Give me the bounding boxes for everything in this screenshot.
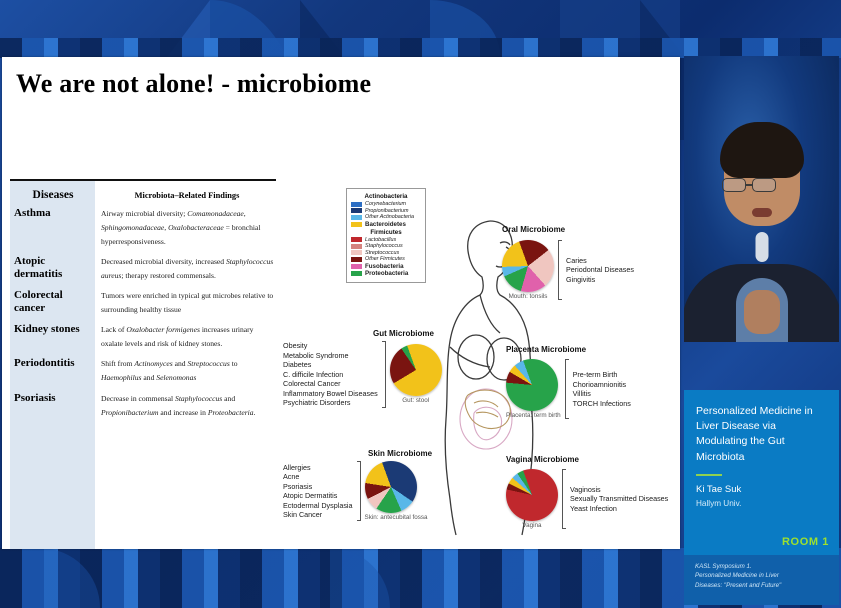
legend-item: Lactobacillus xyxy=(351,237,421,243)
condition-item: Caries xyxy=(566,256,634,266)
condition-item: Chorioamnionitis xyxy=(573,380,631,390)
vagina-microbiome-title: Vagina Microbiome xyxy=(506,455,668,464)
condition-item: Yeast Infection xyxy=(570,504,668,514)
disease-finding: Airway microbial diversity; Comamonadace… xyxy=(95,204,278,252)
legend-label: Lactobacillus xyxy=(365,237,396,243)
symposium-line: Diseases: "Present and Future" xyxy=(695,581,828,590)
legend-label: Corynebacterium xyxy=(365,201,406,207)
condition-item: Psoriasis xyxy=(283,482,353,492)
speaker-neck xyxy=(744,290,780,334)
legend-item: Staphylococcus xyxy=(351,243,421,249)
legend-swatch xyxy=(351,271,362,276)
table-header-row: Diseases Microbiota–Related Findings xyxy=(10,181,278,204)
legend-swatch xyxy=(351,250,362,255)
microphone-icon xyxy=(755,232,768,262)
legend-swatch xyxy=(351,264,362,269)
condition-item: Colorectal Cancer xyxy=(283,379,378,389)
speaker-glasses-left xyxy=(722,178,746,192)
condition-item: Ectodermal Dysplasia xyxy=(283,501,353,511)
disease-finding: Tumors were enriched in typical gut micr… xyxy=(95,286,278,320)
session-info-card: Personalized Medicine in Liver Disease v… xyxy=(684,390,839,555)
oral-microbiome-block: Oral Microbiome Mouth: tonsils CariesPer… xyxy=(502,225,634,300)
condition-item: Metabolic Syndrome xyxy=(283,351,378,361)
legend-label: Propionibacterium xyxy=(365,208,408,214)
speaker-affiliation: Hallym Univ. xyxy=(696,498,827,509)
oral-microbiome-conditions: CariesPeriodontal DiseasesGingivitis xyxy=(566,256,634,285)
legend-group-firmicutes: Firmicutes xyxy=(351,229,421,236)
condition-item: Periodontal Diseases xyxy=(566,265,634,275)
skin-microbiome-block: Skin Microbiome AllergiesAcnePsoriasisAt… xyxy=(283,449,432,521)
legend-label: Other Firmicutes xyxy=(365,256,405,262)
speaker-glasses-bridge xyxy=(746,184,752,186)
condition-item: Allergies xyxy=(283,463,353,473)
legend-swatch xyxy=(351,244,362,249)
session-title: Personalized Medicine in Liver Disease v… xyxy=(696,404,827,465)
accent-divider xyxy=(696,474,722,477)
legend-item: Other Actinobacteria xyxy=(351,214,421,220)
legend-swatch xyxy=(351,222,362,227)
placenta-microbiome-caption: Placenta: term birth xyxy=(506,412,561,419)
oral-microbiome-title: Oral Microbiome xyxy=(502,225,634,234)
legend-label: Proteobacteria xyxy=(365,270,408,277)
legend-swatch xyxy=(351,215,362,220)
placenta-microbiome-conditions: Pre-term BirthChorioamnionitisVillitisTO… xyxy=(573,370,631,408)
disease-name: Asthma xyxy=(10,204,95,252)
skin-microbiome-conditions: AllergiesAcnePsoriasisAtopic DermatitisE… xyxy=(283,463,353,520)
vagina-microbiome-caption: Vagina xyxy=(506,522,558,529)
disease-finding: Shift from Actinomyces and Streptococcus… xyxy=(95,354,278,388)
condition-item: TORCH Infections xyxy=(573,399,631,409)
vagina-microbiome-pie xyxy=(506,469,558,521)
speaker-name: Ki Tae Suk xyxy=(696,484,827,497)
legend-item: Other Firmicutes xyxy=(351,256,421,262)
disease-name: Colorectal cancer xyxy=(10,286,95,320)
legend-group-bacteroidetes: Bacteroidetes xyxy=(351,221,421,228)
gut-microbiome-conditions: ObesityMetabolic SyndromeDiabetesC. diff… xyxy=(283,341,378,408)
presentation-slide: We are not alone! - microbiome Diseases … xyxy=(2,57,680,549)
legend-item: Propionibacterium xyxy=(351,208,421,214)
legend-swatch xyxy=(351,208,362,213)
condition-item: Pre-term Birth xyxy=(573,370,631,380)
legend-label: Fusobacteria xyxy=(365,263,404,270)
legend-label: Staphylococcus xyxy=(365,243,403,249)
legend-item: Corynebacterium xyxy=(351,201,421,207)
disease-name: Periodontitis xyxy=(10,354,95,388)
speaker-hair xyxy=(720,122,804,178)
disease-finding: Decrease in commensal Staphylococcus and… xyxy=(95,389,278,423)
placenta-microbiome-block: Placenta Microbiome Placenta: term birth… xyxy=(506,345,631,419)
disease-name: Kidney stones xyxy=(10,320,95,354)
slide-title: We are not alone! - microbiome xyxy=(16,69,371,99)
condition-item: Psychiatric Disorders xyxy=(283,398,378,408)
oral-microbiome-pie xyxy=(502,240,554,292)
speaker-video-feed[interactable] xyxy=(684,56,839,342)
legend-label: Other Actinobacteria xyxy=(365,214,414,220)
skin-microbiome-caption: Skin: antecubital fossa xyxy=(365,514,428,521)
disease-name: Atopic dermatitis xyxy=(10,252,95,286)
gut-microbiome-caption: Gut: stool xyxy=(390,397,442,404)
condition-item: Obesity xyxy=(283,341,378,351)
vagina-microbiome-conditions: VaginosisSexually Transmitted DiseasesYe… xyxy=(570,485,668,514)
table-row: AsthmaAirway microbial diversity; Comamo… xyxy=(10,204,278,252)
legend-label: Streptococcus xyxy=(365,250,399,256)
condition-item: Skin Cancer xyxy=(283,510,353,520)
vagina-microbiome-block: Vagina Microbiome Vagina VaginosisSexual… xyxy=(506,455,668,529)
condition-item: Sexually Transmitted Diseases xyxy=(570,494,668,504)
condition-item: Atopic Dermatitis xyxy=(283,491,353,501)
taxonomy-legend: ActinobacteriaCorynebacteriumPropionibac… xyxy=(346,188,426,283)
legend-group-actinobacteria: Actinobacteria xyxy=(351,193,421,200)
condition-item: Vaginosis xyxy=(570,485,668,495)
skin-microbiome-title: Skin Microbiome xyxy=(368,449,432,458)
legend-group-proteobacteria: Proteobacteria xyxy=(351,270,421,277)
legend-group-fusobacteria: Fusobacteria xyxy=(351,263,421,270)
gut-microbiome-pie xyxy=(390,344,442,396)
column-header-findings: Microbiota–Related Findings xyxy=(95,181,278,204)
disease-finding: Decreased microbial diversity, increased… xyxy=(95,252,278,286)
condition-item: Inflammatory Bowel Diseases xyxy=(283,389,378,399)
condition-item: Villitis xyxy=(573,389,631,399)
symposium-footer-card: KASL Symposium 1.Personalized Medicine i… xyxy=(684,555,839,605)
placenta-microbiome-pie xyxy=(506,359,558,411)
gut-microbiome-title: Gut Microbiome xyxy=(373,329,442,338)
condition-item: Diabetes xyxy=(283,360,378,370)
column-header-diseases: Diseases xyxy=(10,181,95,204)
symposium-line: KASL Symposium 1. xyxy=(695,562,828,571)
condition-item: Gingivitis xyxy=(566,275,634,285)
table-row: PeriodontitisShift from Actinomyces and … xyxy=(10,354,278,388)
skin-microbiome-pie xyxy=(365,461,417,513)
room-badge: ROOM 1 xyxy=(782,536,829,548)
table-row: Colorectal cancerTumors were enriched in… xyxy=(10,286,278,320)
condition-item: C. difficile Infection xyxy=(283,370,378,380)
table-row: Atopic dermatitisDecreased microbial div… xyxy=(10,252,278,286)
microbiota-findings-table: Diseases Microbiota–Related Findings Ast… xyxy=(10,181,278,549)
table-row: Kidney stonesLack of Oxalobacter formige… xyxy=(10,320,278,354)
symposium-line: Personalized Medicine in Liver xyxy=(695,571,828,580)
disease-name: Psoriasis xyxy=(10,389,95,423)
oral-microbiome-caption: Mouth: tonsils xyxy=(502,293,554,300)
speaker-glasses-right xyxy=(752,178,776,192)
legend-swatch xyxy=(351,257,362,262)
legend-swatch xyxy=(351,202,362,207)
placenta-microbiome-title: Placenta Microbiome xyxy=(506,345,631,354)
legend-item: Streptococcus xyxy=(351,250,421,256)
disease-finding: Lack of Oxalobacter formigenes increases… xyxy=(95,320,278,354)
legend-swatch xyxy=(351,237,362,242)
legend-label: Bacteroidetes xyxy=(365,221,406,228)
screen: We are not alone! - microbiome Diseases … xyxy=(0,0,841,608)
gut-microbiome-block: Gut Microbiome ObesityMetabolic Syndrome… xyxy=(283,329,442,408)
speaker-mouth xyxy=(752,208,772,217)
table-row: PsoriasisDecrease in commensal Staphyloc… xyxy=(10,389,278,423)
condition-item: Acne xyxy=(283,472,353,482)
